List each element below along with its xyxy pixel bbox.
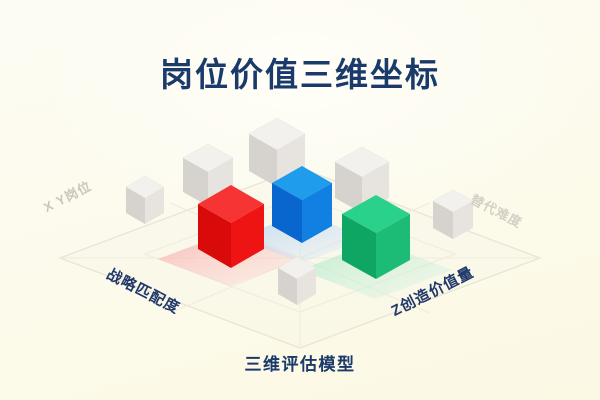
infographic-canvas: 岗位价值三维坐标 三维评估模型 X Y岗位 替代难度 战略匹配度 Z创造价值量: [0, 0, 600, 400]
gray-block-far-right: [433, 190, 473, 239]
page-title: 岗位价值三维坐标: [0, 48, 600, 96]
green-block[interactable]: [342, 195, 410, 279]
page-caption: 三维评估模型: [0, 350, 600, 375]
gray-block-front-center: [278, 257, 316, 305]
gray-block-far-left: [126, 176, 164, 224]
